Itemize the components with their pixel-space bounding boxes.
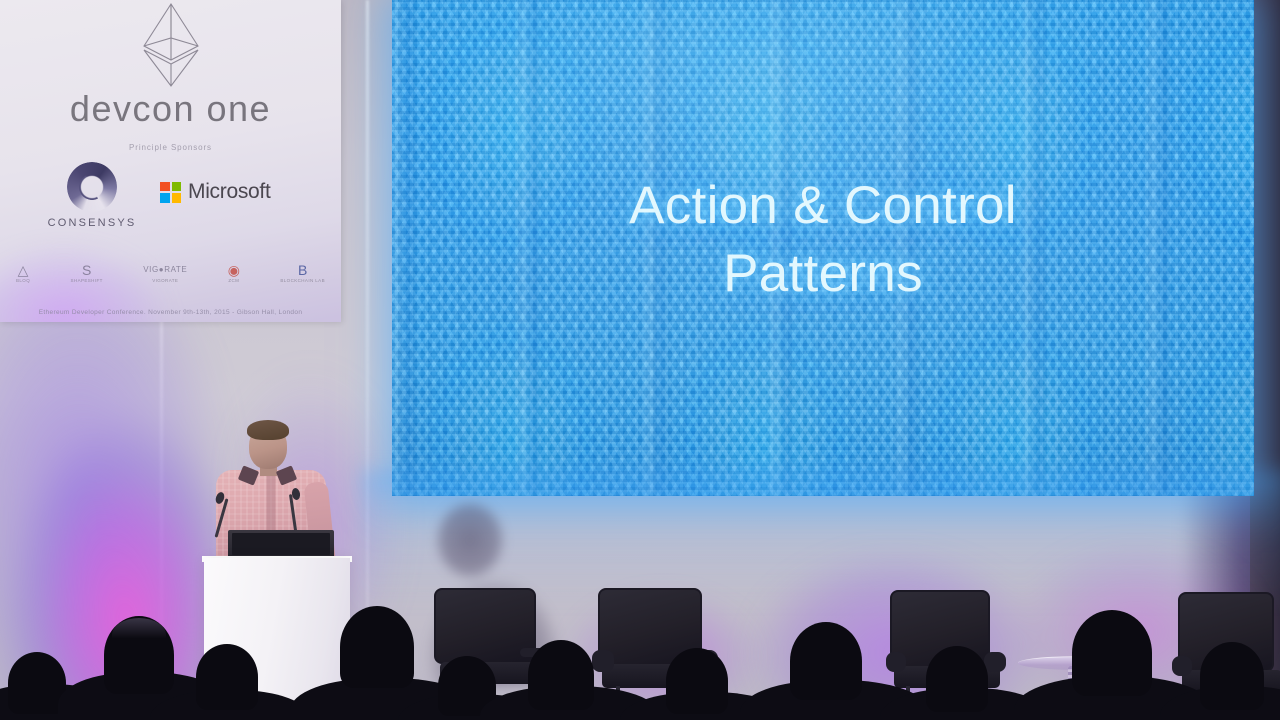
minor-sponsors-row: △ BLOQ S SHAPESHIFT VIG●RATE VIGORATE ◉ … (8, 258, 333, 288)
sponsor-glyph: △ (16, 263, 30, 277)
sponsor-label: BLOCKCHAIN LAB (280, 278, 325, 283)
ethereum-diamond-icon (140, 2, 202, 88)
sponsor-minor-1: △ BLOQ (16, 263, 30, 283)
audience-silhouettes (0, 560, 1280, 720)
sponsor-label: BLOQ (16, 278, 30, 283)
laptop-screen (232, 533, 330, 555)
sponsor-glyph: ◉ (228, 263, 240, 277)
sponsor-label: VIGORATE (143, 278, 187, 283)
microsoft-squares-icon (160, 182, 181, 203)
speaker-hair (247, 420, 289, 440)
sponsor-glyph: VIG●RATE (143, 263, 187, 277)
consensys-label: CONSENSYS (46, 217, 138, 229)
sponsor-glyph: B (280, 263, 325, 277)
microsoft-label: Microsoft (188, 180, 270, 204)
audience-head (340, 606, 414, 688)
audience-head (528, 640, 594, 710)
principal-sponsors-row: CONSENSYS Microsoft (0, 162, 341, 244)
sponsor-minor-3: VIG●RATE VIGORATE (143, 263, 187, 283)
sponsor-label: ZCM (228, 278, 240, 283)
audience-hair-highlight (112, 618, 166, 652)
devcon-banner: devcon one Principle Sponsors CONSENSYS … (0, 0, 341, 322)
sponsor-label: SHAPESHIFT (71, 278, 103, 283)
slide-title-line-1: Action & Control (629, 176, 1017, 235)
sponsor-microsoft: Microsoft (160, 180, 270, 204)
audience-head (1072, 610, 1152, 696)
audience-head (790, 622, 862, 700)
sponsor-consensys: CONSENSYS (46, 162, 138, 229)
audience-head (196, 644, 258, 710)
sponsors-label: Principle Sponsors (0, 143, 341, 152)
banner-footer-text: Ethereum Developer Conference. November … (0, 309, 341, 316)
slide-title: Action & Control Patterns (392, 172, 1254, 308)
sponsor-minor-4: ◉ ZCM (228, 263, 240, 283)
audience-head (1200, 642, 1264, 710)
event-name: devcon one (0, 88, 341, 130)
sponsor-glyph: S (71, 263, 103, 277)
consensys-spiral-icon (67, 162, 117, 212)
sponsor-minor-5: B BLOCKCHAIN LAB (280, 263, 325, 283)
stage-photo: Action & Control Patterns devcon one Pri… (0, 0, 1280, 720)
audience-head (926, 646, 988, 712)
sponsor-minor-2: S SHAPESHIFT (71, 263, 103, 283)
slide-title-line-2: Patterns (392, 240, 1254, 308)
projection-screen: Action & Control Patterns (392, 0, 1254, 496)
audience-head (666, 648, 728, 714)
